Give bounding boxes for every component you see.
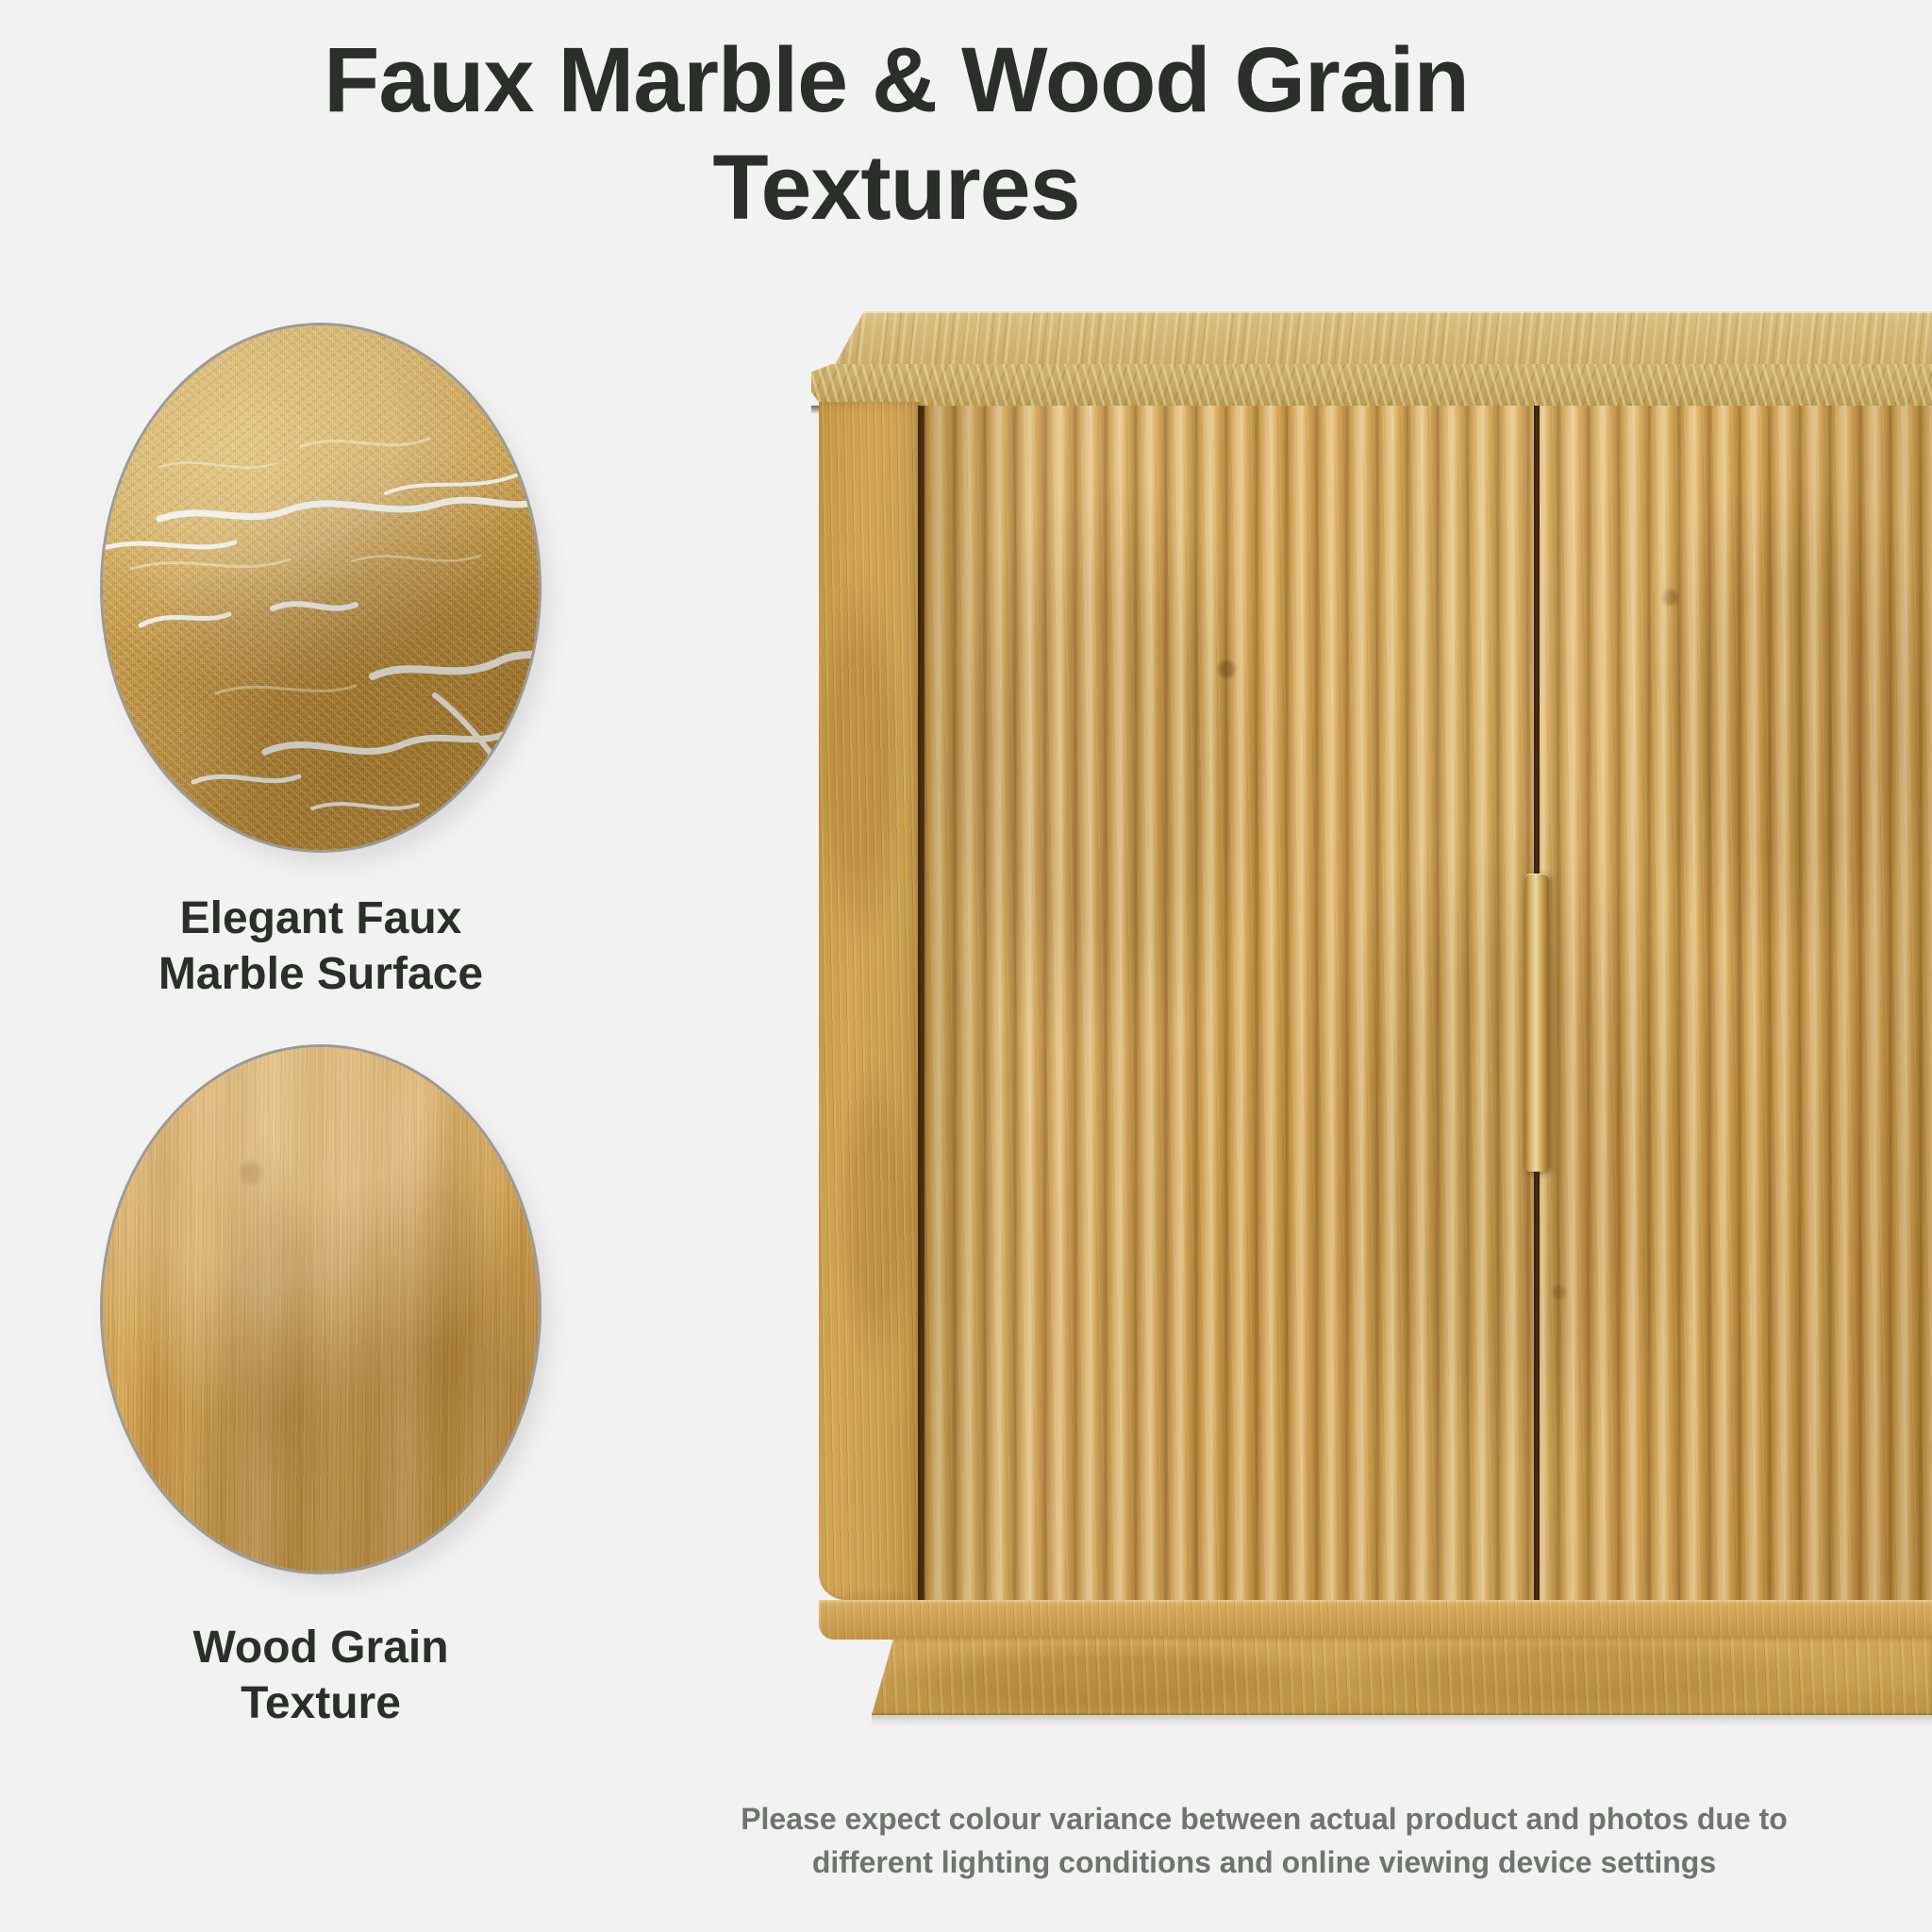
cabinet-fluted-doors (924, 406, 1932, 1604)
cabinet-side-gap (918, 406, 924, 1602)
swatch-block-wood: Wood Grain Texture (57, 1047, 585, 1731)
cabinet-plinth-base (872, 1636, 1932, 1715)
marble-swatch-caption: Elegant Faux Marble Surface (57, 891, 585, 1002)
cabinet-marble-top-edge (811, 364, 1932, 408)
cabinet-marble-top-face (832, 311, 1932, 370)
swatch-block-marble: Elegant Faux Marble Surface (57, 325, 585, 1002)
cabinet-left-side-panel (819, 402, 921, 1600)
wood-grain-swatch-circle-icon (103, 1047, 539, 1572)
door-flute-shading (924, 406, 1932, 1604)
page-title: Faux Marble & Wood Grain Textures (132, 26, 1660, 242)
product-photo-fluted-sideboard (811, 311, 1932, 1717)
colour-variance-disclaimer: Please expect colour variance between ac… (660, 1797, 1868, 1885)
infographic-canvas: Faux Marble & Wood Grain Textures (0, 0, 1932, 1932)
wood-sheen (103, 1047, 539, 1572)
brass-bar-handle-icon (1524, 874, 1549, 1172)
marble-swatch-circle-icon (103, 325, 539, 850)
cabinet-floor-shadow (872, 1713, 1932, 1726)
wood-swatch-caption: Wood Grain Texture (57, 1621, 585, 1731)
cabinet-bottom-rail (819, 1600, 1932, 1640)
marble-sheen (103, 325, 539, 850)
